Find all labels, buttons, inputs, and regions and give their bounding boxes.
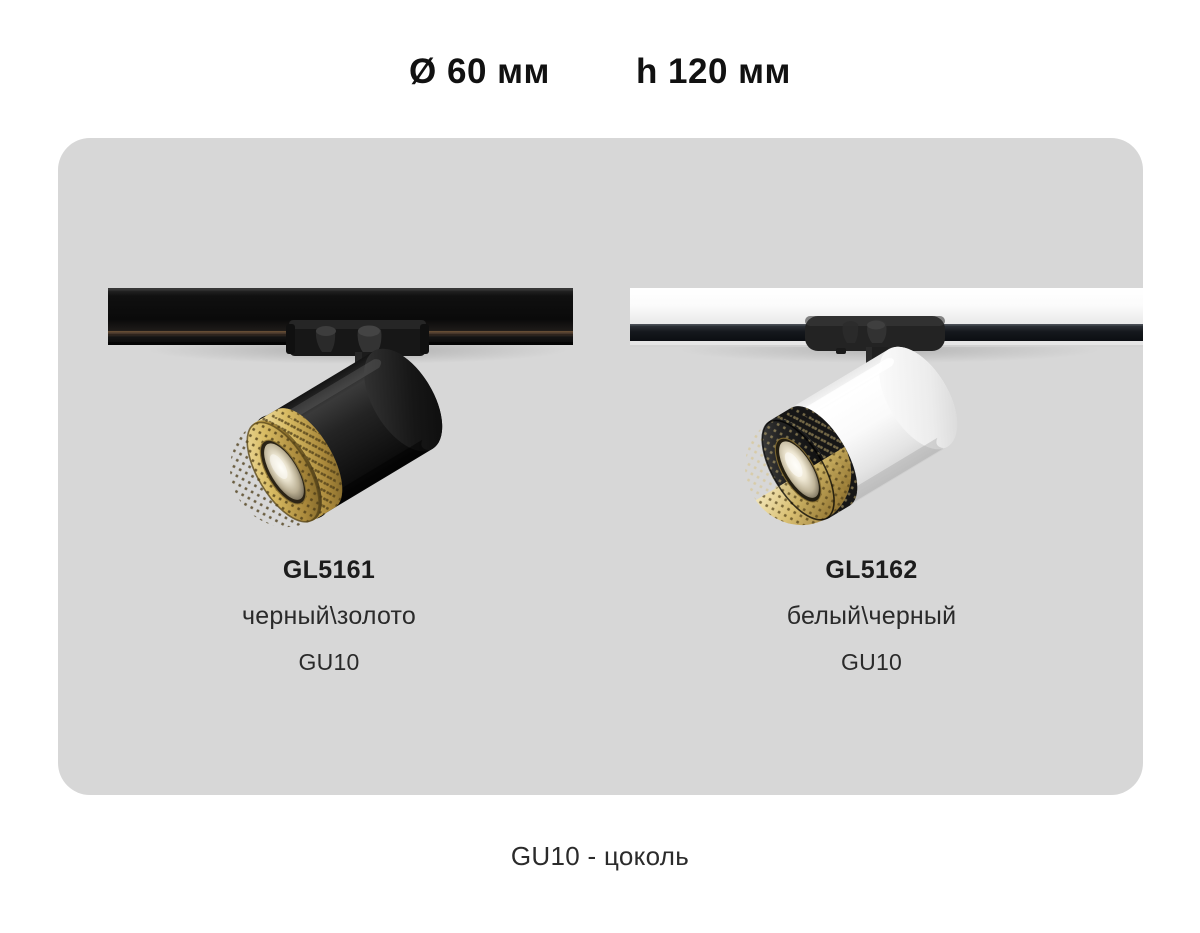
socket-label-right: GU10 xyxy=(600,629,1143,674)
footer: GU10 - цоколь xyxy=(0,841,1200,872)
caption-right: GL5162 белый\черный GU10 xyxy=(600,558,1143,674)
dimensions-header: Ø 60 мм h 120 мм xyxy=(0,47,1200,97)
color-label-right: белый\черный xyxy=(600,583,1143,629)
product-image-black xyxy=(58,138,600,558)
caption-left: GL5161 черный\золото GU10 xyxy=(58,558,600,674)
socket-note: GU10 - цоколь xyxy=(511,841,689,871)
product-right: GL5162 белый\черный GU10 xyxy=(600,138,1143,795)
product-image-white xyxy=(600,138,1143,558)
color-label-left: черный\золото xyxy=(58,583,600,629)
product-left: GL5161 черный\золото GU10 xyxy=(58,138,600,795)
lamp-head-white xyxy=(724,333,974,547)
sku-label-right: GL5162 xyxy=(600,558,1143,583)
socket-label-left: GU10 xyxy=(58,629,600,674)
diameter-label: Ø 60 мм xyxy=(409,52,550,92)
sku-label-left: GL5161 xyxy=(58,558,600,583)
product-card: GL5161 черный\золото GU10 xyxy=(58,138,1143,795)
lamp-head-black xyxy=(209,335,459,549)
height-label: h 120 мм xyxy=(636,52,791,92)
